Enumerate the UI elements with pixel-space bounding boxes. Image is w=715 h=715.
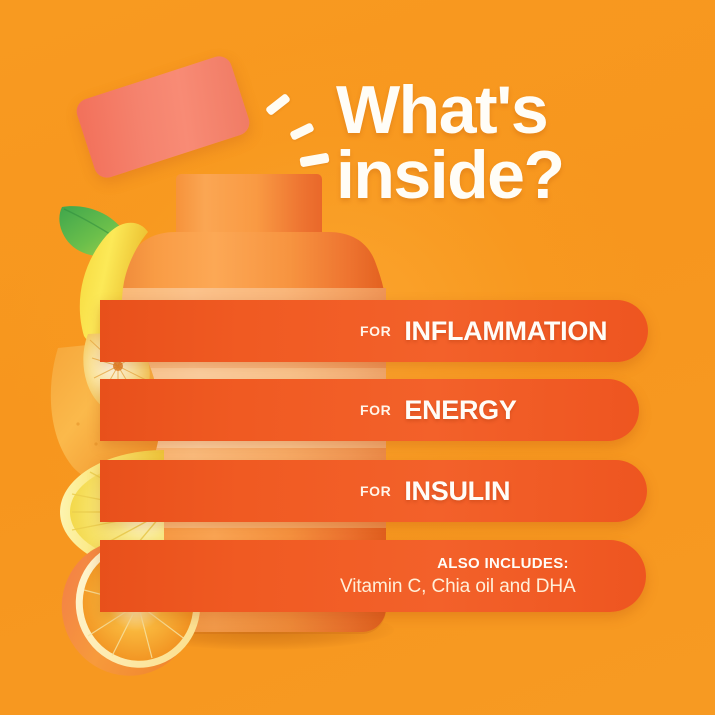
also-includes-heading: ALSO INCLUDES: <box>437 555 569 572</box>
benefit-pill-insulin[interactable]: FOR INSULIN <box>100 460 647 522</box>
benefit-pill-inflammation[interactable]: FOR INFLAMMATION <box>100 300 648 362</box>
bottle-cap <box>73 53 252 181</box>
for-label: FOR <box>360 402 391 418</box>
benefit-label: INFLAMMATION <box>404 316 607 347</box>
also-includes-items: Vitamin C, Chia oil and DHA <box>340 576 576 598</box>
for-label: FOR <box>360 483 391 499</box>
also-includes-pill[interactable]: ALSO INCLUDES: Vitamin C, Chia oil and D… <box>100 540 646 612</box>
for-label: FOR <box>360 323 391 339</box>
benefit-pill-energy[interactable]: FOR ENERGY <box>100 379 639 441</box>
benefit-label: ENERGY <box>404 395 516 426</box>
benefit-label: INSULIN <box>404 476 510 507</box>
poster-canvas: What's inside? Omega-3 <box>0 0 715 715</box>
